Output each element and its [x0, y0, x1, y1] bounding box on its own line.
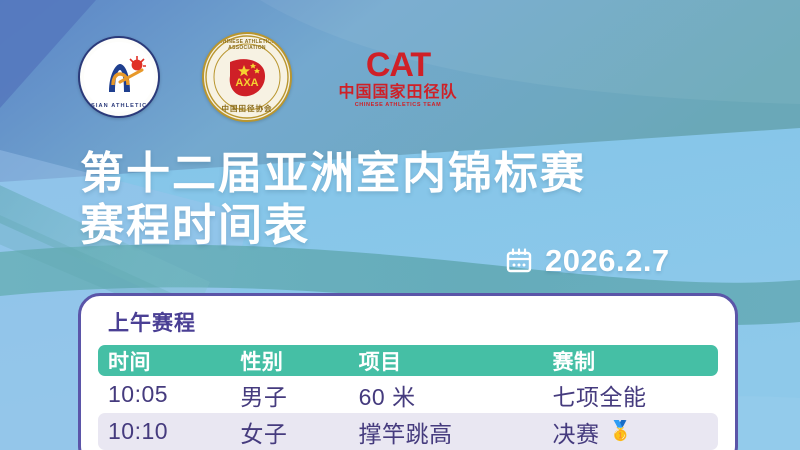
schedule-card: 上午赛程 时间 性别 项目 赛制 10:05 男子 60 米 七项全能 10:1… [78, 293, 738, 450]
cell-time: 10:05 [98, 381, 240, 408]
cell-format-label: 决赛 [553, 415, 600, 449]
event-date: 2026.2.7 [505, 243, 670, 279]
cat-logo-text-cn: 中国国家田径队 [334, 85, 462, 101]
cell-event: 60 米 [359, 378, 553, 412]
cell-time: 10:10 [98, 418, 240, 445]
table-row: 10:10 女子 撑竿跳高 决赛 🥇 [98, 413, 718, 450]
medal-icon: 🥇 [609, 422, 633, 441]
schedule-table-header: 时间 性别 项目 赛制 [98, 345, 718, 376]
column-header-gender: 性别 [240, 346, 358, 376]
svg-text:AXA: AXA [235, 77, 258, 89]
column-header-format: 赛制 [553, 346, 719, 376]
cell-format: 决赛 🥇 [553, 415, 719, 449]
chinese-athletics-team-logo: CAT 中国国家田径队 CHINESE ATHLETICS TEAM [334, 46, 462, 109]
event-date-value: 2026.2.7 [545, 243, 670, 279]
cell-gender: 女子 [240, 415, 358, 449]
asian-athletics-logo: ASIAN ATHLETICS [78, 36, 160, 118]
chinese-athletics-association-logo-text-en: CHINESE ATHLETICS ASSOCIATION [204, 39, 290, 51]
column-header-time: 时间 [98, 346, 240, 376]
column-header-event: 项目 [359, 346, 553, 376]
chinese-athletics-association-logo: AXA CHINESE ATHLETICS ASSOCIATION 中国田径协会 [202, 32, 292, 122]
cell-format-label: 七项全能 [553, 378, 647, 412]
poster-root: ASIAN ATHLETICS AXA CHINESE ATHLETICS AS… [0, 0, 800, 450]
calendar-icon [505, 247, 533, 275]
cell-event: 撑竿跳高 [359, 415, 553, 449]
logo-row: ASIAN ATHLETICS AXA CHINESE ATHLETICS AS… [78, 32, 462, 122]
cat-logo-text-en: CHINESE ATHLETICS TEAM [334, 103, 462, 109]
schedule-section-title: 上午赛程 [81, 296, 735, 345]
cell-gender: 男子 [240, 378, 358, 412]
page-title: 第十二届亚洲室内锦标赛 赛程时间表 [80, 148, 586, 252]
asian-athletics-logo-text: ASIAN ATHLETICS [80, 103, 158, 109]
title-line-1: 第十二届亚洲室内锦标赛 [80, 148, 586, 200]
table-row: 10:05 男子 60 米 七项全能 [98, 376, 718, 413]
cat-wordmark: CAT [366, 48, 430, 82]
chinese-athletics-association-logo-text-cn: 中国田径协会 [204, 103, 290, 114]
cell-format: 七项全能 [553, 378, 719, 412]
